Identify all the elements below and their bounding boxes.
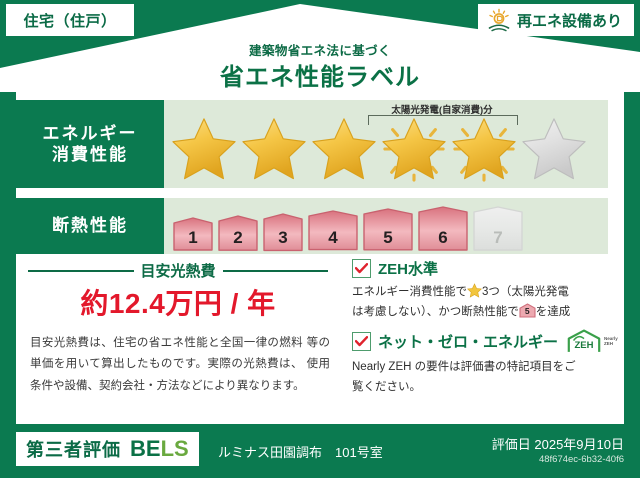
building-type-text: 住宅（住戸）: [23, 10, 116, 31]
insulation-grade-number: 3: [262, 228, 304, 248]
building-type-badge: 住宅（住戸）: [6, 4, 134, 36]
utility-cost-value: 約12.4万円 / 年: [28, 282, 328, 322]
insulation-grade-number: 1: [172, 228, 214, 248]
mini-star-icon: [467, 283, 482, 298]
insulation-grades-panel: 1234567: [164, 198, 608, 254]
bels-logo: BELS: [130, 436, 189, 462]
section-divider: [339, 258, 340, 406]
zeh-desc-b: 3つ（太陽光発電: [482, 286, 569, 298]
zeh-logo-text: ZEH: [575, 340, 594, 351]
insulation-grade-5: 5: [362, 206, 414, 253]
insulation-grade-4: 4: [307, 208, 359, 253]
energy-performance-row: エネルギー 消費性能 太陽光発電(自家消費)分: [16, 100, 608, 188]
cost-heading-text: 目安光熱費: [141, 260, 216, 281]
star-empty: [520, 116, 588, 182]
star-filled: [170, 116, 238, 182]
star-filled: [310, 116, 378, 182]
energy-performance-label: エネルギー 消費性能: [16, 100, 164, 188]
insulation-grade-number: 5: [362, 228, 414, 248]
insulation-grade-number: 6: [417, 228, 469, 248]
renewable-badge-text: 再エネ設備あり: [517, 10, 622, 31]
zeh-section: ZEH水準 エネルギー消費性能で3つ（太陽光発電 は考慮しない）、かつ断熱性能で…: [352, 258, 614, 404]
cost-rule-right: [223, 270, 329, 272]
zeh-standard-item: ZEH水準 エネルギー消費性能で3つ（太陽光発電 は考慮しない）、かつ断熱性能で…: [352, 258, 614, 322]
label-title: 省エネ性能ラベル: [0, 57, 640, 92]
cost-rule-left: [28, 270, 134, 272]
insulation-grade-scale: 1234567: [172, 204, 524, 253]
insulation-grade-1: 1: [172, 215, 214, 253]
evaluation-id: 48f674ec-6b32-40f6: [539, 454, 624, 465]
net-zero-desc-line2: 覧ください。: [352, 381, 421, 393]
insulation-grade-2: 2: [217, 213, 259, 253]
insulation-label-text: 断熱性能: [52, 215, 128, 236]
insulation-performance-label: 断熱性能: [16, 198, 164, 254]
mini-house-icon: 5: [519, 303, 536, 318]
insulation-grade-6: 6: [417, 204, 469, 253]
utility-cost-note: 目安光熱費は、住宅の省エネ性能と全国一律の燃料 等の単価を用いて算出したものです…: [30, 333, 330, 397]
zeh-logo: ZEH Nearly ZEH: [565, 328, 618, 354]
building-name: ルミナス田園調布 101号室: [218, 442, 383, 461]
energy-label-card: 住宅（住戸） 再エネ設備あり 建築物省エネ法に基づく 省エネ性能ラベル エネルギ…: [0, 0, 640, 478]
insulation-grade-number: 7: [472, 228, 524, 248]
net-zero-header: ネット・ゼロ・エネルギー ZEH Nearly ZEH: [352, 328, 614, 354]
net-zero-description: Nearly ZEH の要件は評価書の特記項目をご 覧ください。: [352, 357, 614, 397]
star-filled: [240, 116, 308, 182]
net-zero-title: ネット・ゼロ・エネルギー: [378, 331, 558, 352]
zeh-logo-sublabel: Nearly ZEH: [604, 336, 618, 346]
zeh-standard-header: ZEH水準: [352, 258, 614, 279]
sun-solar-icon: [486, 8, 512, 32]
insulation-grade-3: 3: [262, 211, 304, 253]
star-filled-solar: [450, 116, 518, 182]
star-filled-solar: [380, 116, 448, 182]
zeh-standard-title: ZEH水準: [378, 258, 438, 279]
insulation-grade-number: 4: [307, 228, 359, 248]
cost-note-line1: 目安光熱費は、住宅の省エネ性能と全国一律の燃料: [30, 337, 303, 349]
check-icon: [355, 336, 368, 347]
zeh-standard-description: エネルギー消費性能で3つ（太陽光発電 は考慮しない）、かつ断熱性能で5を達成: [352, 282, 614, 322]
bels-logo-part1: BE: [130, 436, 161, 461]
bels-logo-part2: LS: [161, 436, 189, 461]
bels-badge: 第三者評価 BELS: [16, 432, 199, 466]
insulation-grade-7: 7: [472, 204, 524, 253]
energy-label-line1: エネルギー: [43, 123, 138, 144]
mini-house-number: 5: [519, 305, 536, 318]
footer-band: 第三者評価 BELS ルミナス田園調布 101号室 評価日 2025年9月10日…: [0, 424, 640, 478]
third-party-label: 第三者評価: [26, 436, 121, 462]
net-zero-energy-item: ネット・ゼロ・エネルギー ZEH Nearly ZEH Nearly ZEH の…: [352, 328, 614, 397]
energy-stars-panel: 太陽光発電(自家消費)分: [164, 100, 608, 188]
utility-cost-heading: 目安光熱費: [28, 260, 328, 281]
zeh-desc-a: エネルギー消費性能で: [352, 286, 467, 298]
net-zero-desc-line1: Nearly ZEH の要件は評価書の特記項目をご: [352, 361, 576, 373]
net-zero-checkbox[interactable]: [352, 332, 371, 351]
star-rating: [170, 116, 588, 182]
solar-allocation-note: 太陽光発電(自家消費)分: [366, 102, 518, 116]
zeh-desc-c: は考慮しない）、かつ断熱性能で: [352, 306, 519, 318]
energy-label-line2: 消費性能: [52, 144, 128, 165]
check-icon: [355, 263, 368, 274]
zeh-desc-d: を達成: [536, 306, 571, 318]
insulation-grade-number: 2: [217, 228, 259, 248]
zeh-house-logo-icon: ZEH: [565, 328, 603, 354]
renewable-energy-badge: 再エネ設備あり: [478, 4, 634, 36]
zeh-logo-sub2: ZEH: [604, 341, 618, 346]
zeh-standard-checkbox[interactable]: [352, 259, 371, 278]
evaluation-date: 評価日 2025年9月10日: [492, 434, 624, 453]
insulation-performance-row: 断熱性能 1234567: [16, 198, 608, 254]
